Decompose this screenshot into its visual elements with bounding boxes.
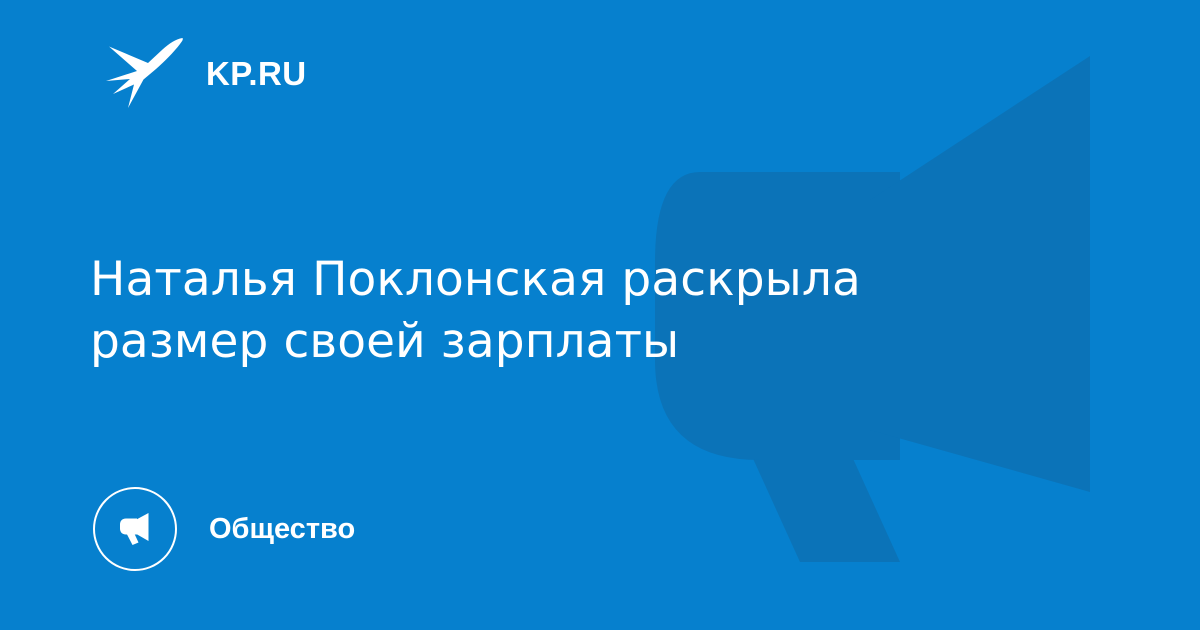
category-label: Общество: [209, 515, 355, 544]
share-card: KP.RU Наталья Поклонская раскрыла размер…: [0, 0, 1200, 630]
page-title: Наталья Поклонская раскрыла размер своей…: [90, 249, 1020, 373]
category-badge[interactable]: Общество: [93, 487, 355, 571]
megaphone-icon: [113, 507, 157, 551]
swallow-bird-icon: [104, 36, 184, 110]
brand-logo[interactable]: KP.RU: [104, 36, 306, 110]
brand-name: KP.RU: [206, 57, 306, 90]
category-icon-circle: [93, 487, 177, 571]
